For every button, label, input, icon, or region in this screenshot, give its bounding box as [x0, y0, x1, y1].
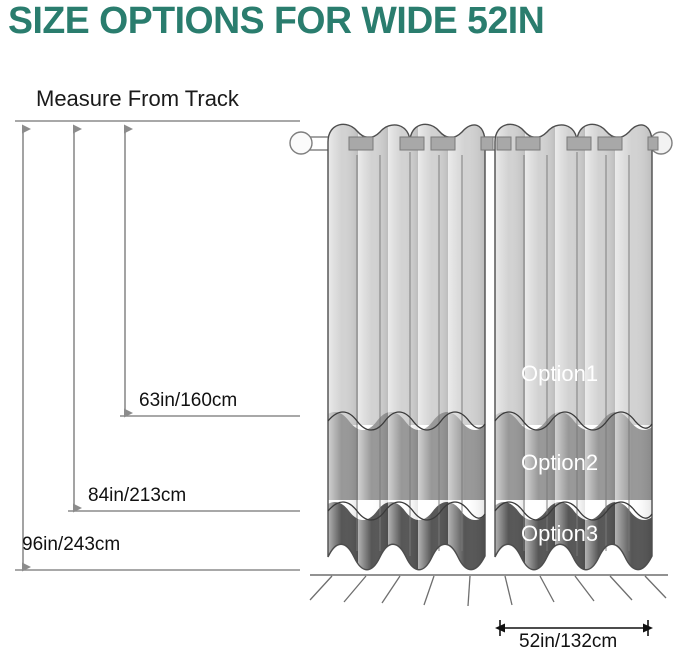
- option-label-3: Option3: [521, 521, 598, 547]
- dimension-arrow-63in: [120, 129, 300, 416]
- curtain-panel-left: [320, 115, 495, 595]
- dimension-label-63in: 63in/160cm: [139, 390, 237, 412]
- dimension-label-96in: 96in/243cm: [22, 534, 120, 556]
- dimension-label-84in: 84in/213cm: [88, 485, 186, 507]
- floor-line: [310, 575, 668, 606]
- option-label-2: Option2: [521, 450, 598, 476]
- floor-hatch-marks: [310, 576, 666, 606]
- rod-finial-left: [290, 132, 312, 154]
- dimension-label-52in: 52in/132cm: [519, 631, 617, 653]
- diagram-canvas: SIZE OPTIONS FOR WIDE 52IN Measure From …: [0, 0, 679, 660]
- curtain-diagram-svg: [0, 0, 679, 660]
- dimension-arrow-84in: [68, 129, 300, 511]
- option-label-1: Option1: [521, 361, 598, 387]
